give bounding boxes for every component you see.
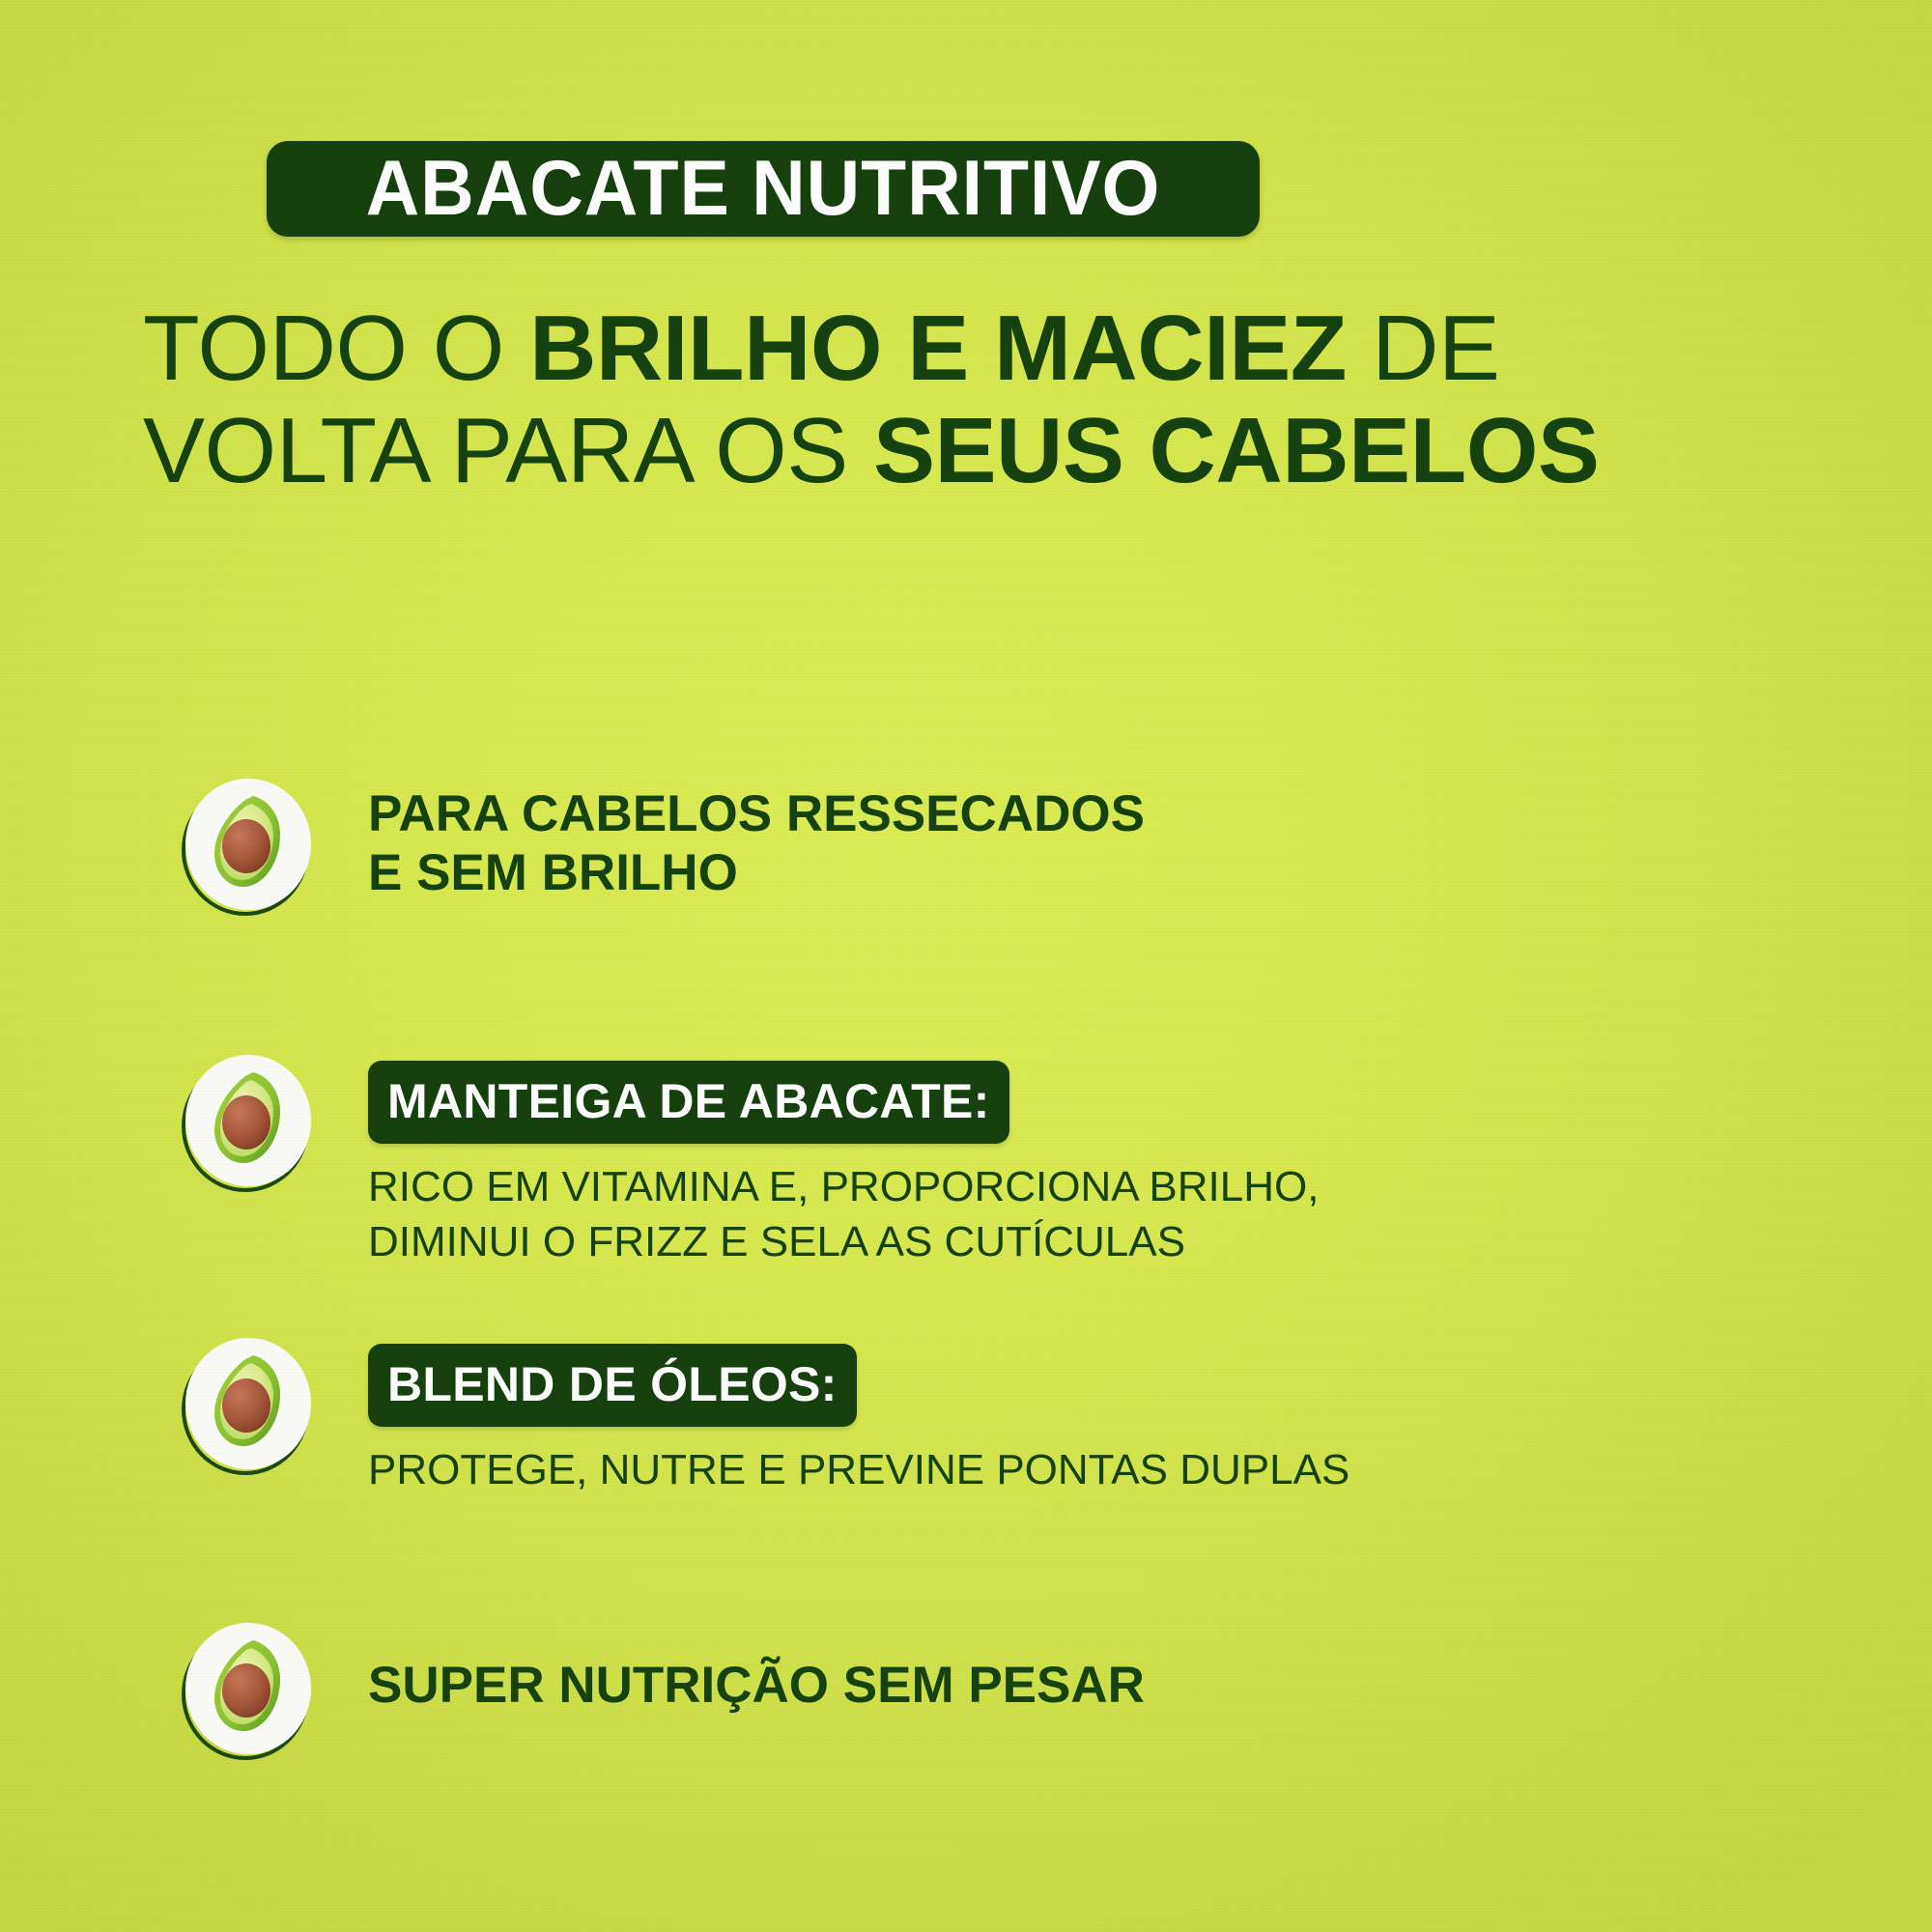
benefit-desc-line-1: PROTEGE, NUTRE E PREVINE PONTAS DUPLAS — [368, 1442, 1350, 1497]
benefit-description: PROTEGE, NUTRE E PREVINE PONTAS DUPLAS — [368, 1442, 1350, 1497]
title-badge-label: ABACATE NUTRITIVO — [366, 150, 1161, 228]
benefit-desc-line-2: DIMINUI O FRIZZ E SELA AS CUTÍCULAS — [368, 1214, 1319, 1269]
benefit-item-1: PARA CABELOS RESSECADOS E SEM BRILHO — [180, 779, 1145, 914]
headline-line-1: TODO O BRILHO E MACIEZ DE — [143, 298, 1804, 400]
headline-line1-regular-a: TODO O — [143, 297, 529, 400]
headline-line-2: VOLTA PARA OS SEUS CABELOS — [143, 400, 1804, 502]
benefit-title-line-1: PARA CABELOS RESSECADOS — [368, 784, 1145, 843]
headline: TODO O BRILHO E MACIEZ DE VOLTA PARA OS … — [143, 298, 1804, 501]
headline-line2-regular: VOLTA PARA OS — [143, 399, 873, 502]
headline-line1-bold: BRILHO E MACIEZ — [529, 297, 1347, 400]
benefit-tag-badge: BLEND DE ÓLEOS: — [368, 1344, 857, 1427]
benefit-body: BLEND DE ÓLEOS: PROTEGE, NUTRE E PREVINE… — [368, 1338, 1350, 1497]
benefit-item-4: SUPER NUTRIÇÃO SEM PESAR — [180, 1623, 1145, 1758]
avocado-half-icon — [180, 1623, 315, 1758]
avocado-illustration — [185, 779, 311, 910]
headline-line2-bold: SEUS CABELOS — [873, 399, 1599, 502]
avocado-half-icon — [180, 1055, 315, 1190]
benefit-item-3: BLEND DE ÓLEOS: PROTEGE, NUTRE E PREVINE… — [180, 1338, 1350, 1497]
title-badge: ABACATE NUTRITIVO — [267, 141, 1260, 237]
avocado-half-icon — [180, 1338, 315, 1473]
benefit-description: RICO EM VITAMINA E, PROPORCIONA BRILHO, … — [368, 1159, 1319, 1269]
promo-poster: ABACATE NUTRITIVO TODO O BRILHO E MACIEZ… — [0, 0, 1932, 1932]
benefit-tag-badge: MANTEIGA DE ABACATE: — [368, 1061, 1009, 1144]
benefit-title-line-2: E SEM BRILHO — [368, 843, 1145, 902]
avocado-half-icon — [180, 779, 315, 914]
benefit-title-line-1: SUPER NUTRIÇÃO SEM PESAR — [368, 1656, 1145, 1715]
benefit-body: MANTEIGA DE ABACATE: RICO EM VITAMINA E,… — [368, 1055, 1319, 1269]
avocado-illustration — [185, 1623, 311, 1754]
benefit-body: SUPER NUTRIÇÃO SEM PESAR — [368, 1623, 1145, 1715]
headline-line1-regular-b: DE — [1347, 297, 1500, 400]
benefit-body: PARA CABELOS RESSECADOS E SEM BRILHO — [368, 779, 1145, 903]
benefit-desc-line-1: RICO EM VITAMINA E, PROPORCIONA BRILHO, — [368, 1159, 1319, 1214]
avocado-illustration — [185, 1055, 311, 1186]
avocado-illustration — [185, 1338, 311, 1469]
benefit-item-2: MANTEIGA DE ABACATE: RICO EM VITAMINA E,… — [180, 1055, 1319, 1269]
